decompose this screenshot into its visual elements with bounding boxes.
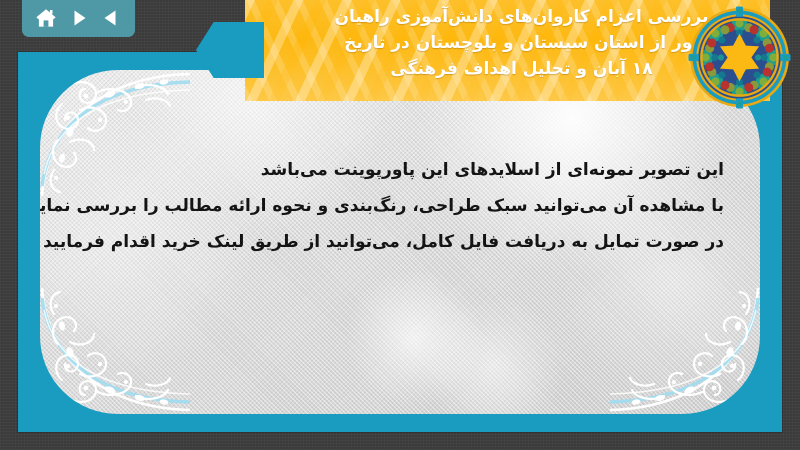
slide-line-1: این تصویر نمونه‌ای از اسلایدهای این پاور… bbox=[100, 152, 724, 188]
next-slide-button[interactable] bbox=[66, 6, 92, 30]
ornamental-medallion-icon bbox=[688, 6, 791, 109]
home-icon bbox=[35, 8, 57, 28]
slide-viewer: بررسی اعزام کاروان‌های دانش‌آموزی راهیان… bbox=[0, 0, 800, 450]
arabesque-icon bbox=[40, 282, 190, 414]
home-button[interactable] bbox=[33, 6, 59, 30]
arabesque-corner-bottom-right bbox=[610, 282, 760, 414]
arabesque-corner-bottom-left bbox=[40, 282, 190, 414]
content-panel: این تصویر نمونه‌ای از اسلایدهای این پاور… bbox=[18, 52, 782, 432]
ornamental-medallion bbox=[688, 6, 791, 109]
previous-slide-button[interactable] bbox=[98, 6, 124, 30]
title-line-2: نور از استان سیستان و بلوچستان در تاریخ bbox=[287, 30, 756, 56]
content-panel-inner: این تصویر نمونه‌ای از اسلایدهای این پاور… bbox=[40, 70, 760, 414]
title-line-1: بررسی اعزام کاروان‌های دانش‌آموزی راهیان bbox=[287, 4, 756, 30]
title-line-3: ۱۸ آبان و تحلیل اهداف فرهنگی bbox=[287, 56, 756, 82]
title-text: بررسی اعزام کاروان‌های دانش‌آموزی راهیان… bbox=[287, 4, 756, 82]
triangle-left-icon bbox=[101, 8, 121, 28]
slide-body-text: این تصویر نمونه‌ای از اسلایدهای این پاور… bbox=[100, 152, 724, 260]
triangle-right-icon bbox=[69, 8, 89, 28]
arabesque-icon bbox=[610, 282, 760, 414]
slide-line-3: در صورت تمایل به دریافت فایل کامل، می‌تو… bbox=[100, 224, 724, 260]
slide-line-2: با مشاهده آن می‌توانید سبک طراحی، رنگ‌بن… bbox=[100, 188, 724, 224]
navigation-bar bbox=[22, 0, 135, 37]
